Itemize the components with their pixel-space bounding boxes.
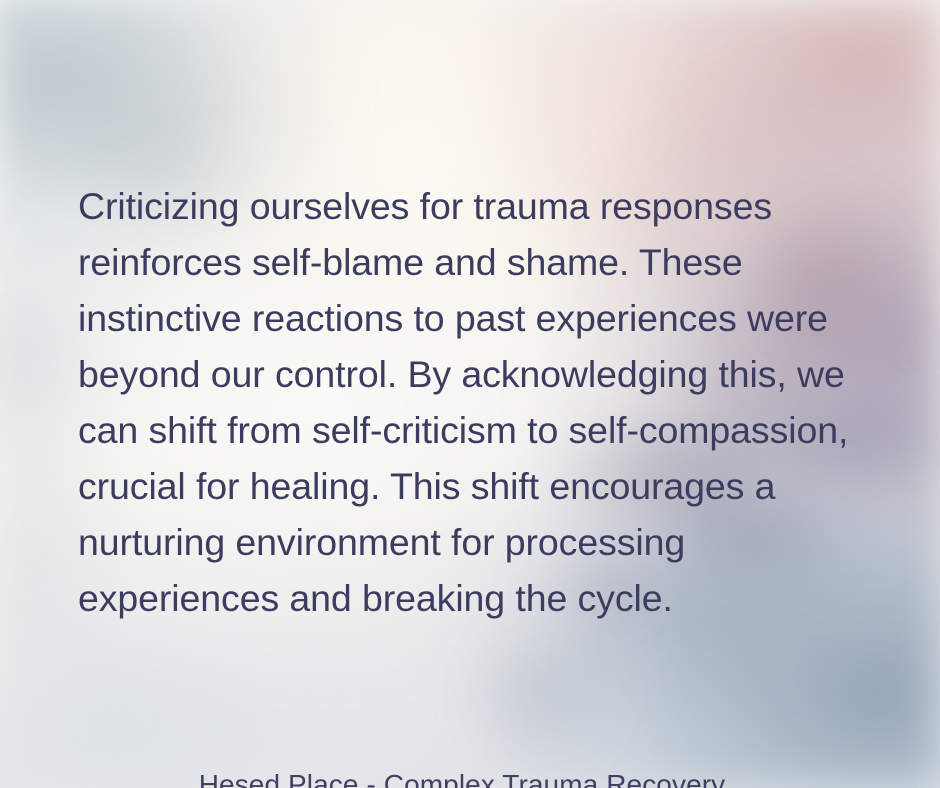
attribution-label: Hesed Place - Complex Trauma Recovery — [0, 765, 940, 788]
card-content: Criticizing ourselves for trauma respons… — [0, 0, 940, 788]
quote-card: Criticizing ourselves for trauma respons… — [0, 0, 940, 788]
quote-body-text: Criticizing ourselves for trauma respons… — [78, 178, 868, 626]
